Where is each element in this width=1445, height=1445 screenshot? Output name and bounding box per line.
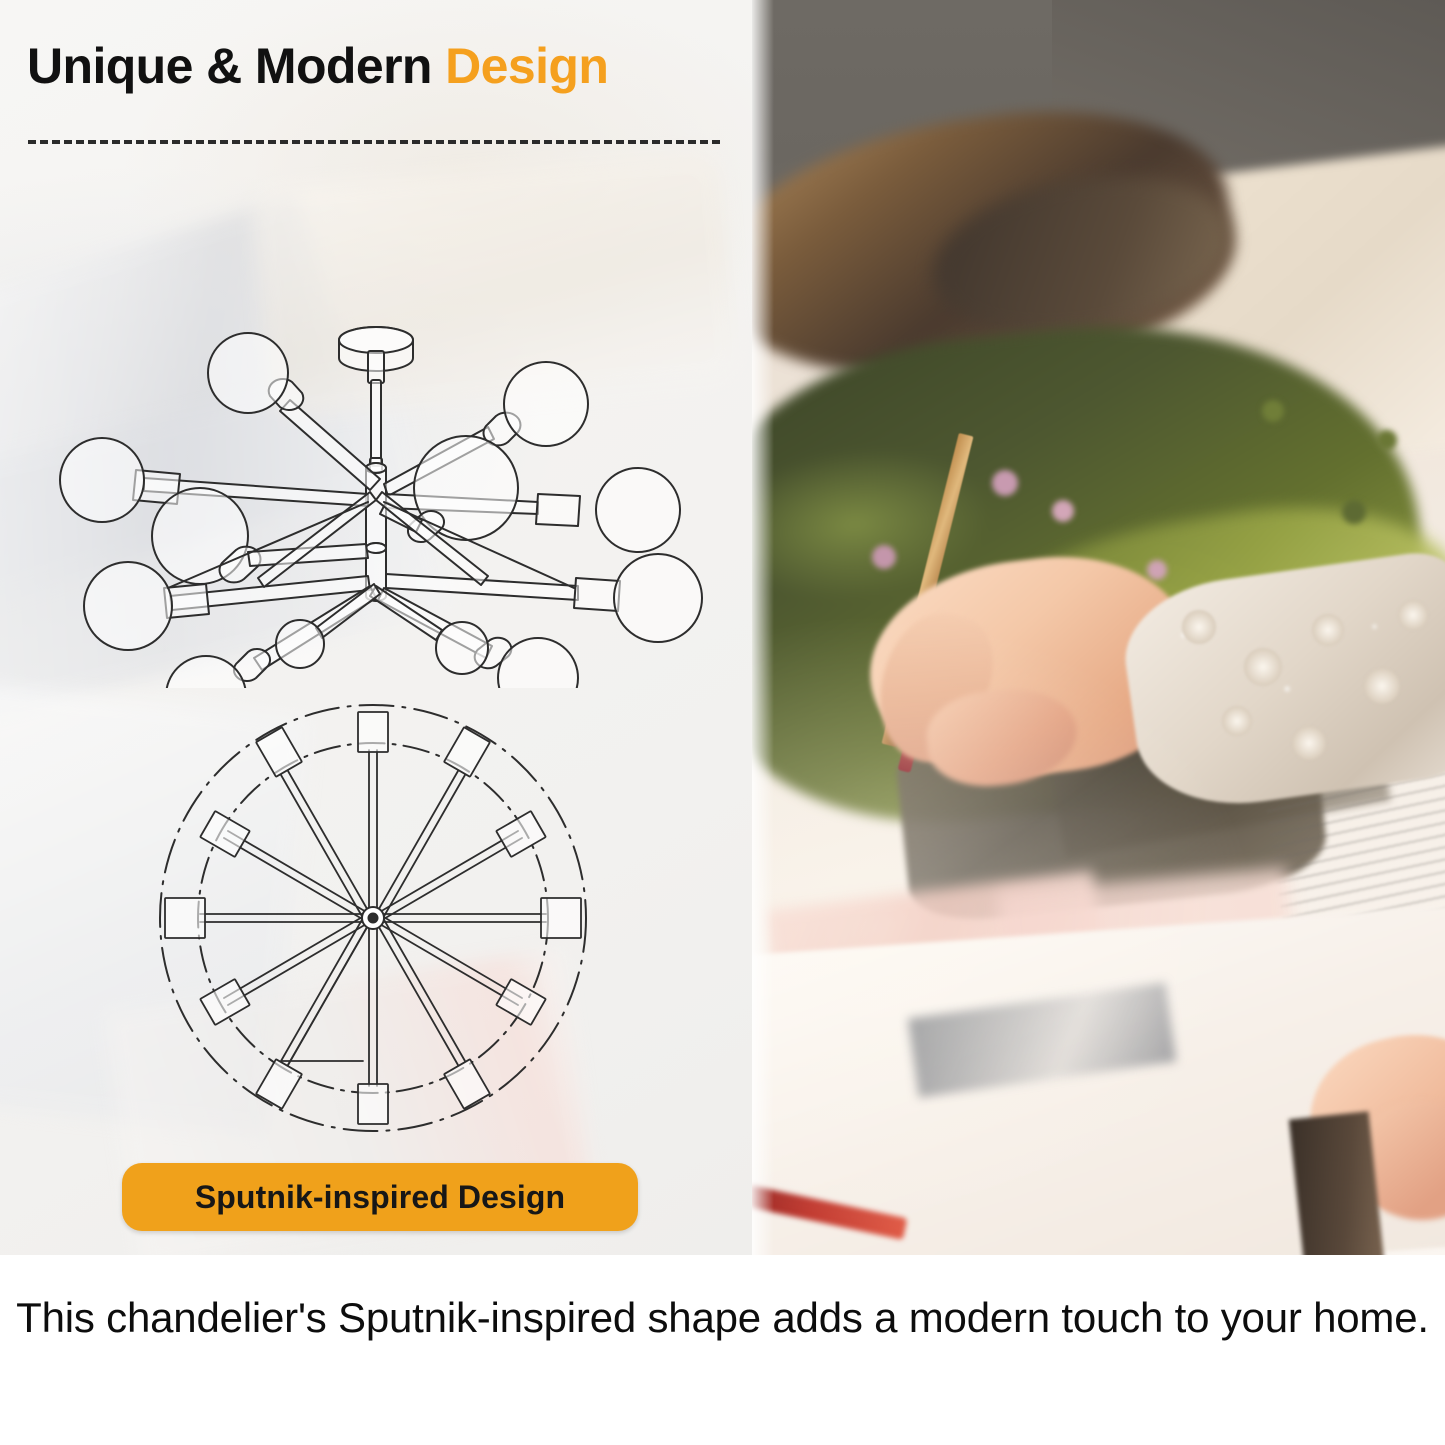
dashed-divider — [28, 140, 720, 144]
title-main-text: Unique & Modern — [27, 38, 445, 94]
chandelier-plan-drawing — [128, 690, 618, 1150]
caption-text: This chandelier's Sputnik-inspired shape… — [0, 1290, 1445, 1345]
left-illustration-panel: Unique & Modern Design — [0, 0, 752, 1255]
product-infographic: Unique & Modern Design — [0, 0, 1445, 1445]
sputnik-design-badge[interactable]: Sputnik-inspired Design — [122, 1163, 638, 1231]
chandelier-perspective-drawing — [18, 158, 718, 688]
photo-light-bloom — [752, 0, 1445, 1255]
title-accent-text: Design — [445, 38, 608, 94]
photo-left-feather — [752, 0, 774, 1255]
page-title: Unique & Modern Design — [27, 38, 608, 94]
lifestyle-photo — [752, 0, 1445, 1255]
badge-label: Sputnik-inspired Design — [195, 1179, 565, 1216]
